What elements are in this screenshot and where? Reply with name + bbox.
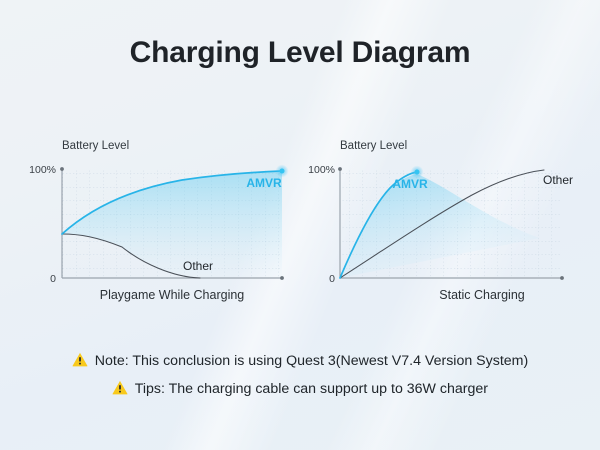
chart-svg-playgame: Battery Level 100% 0 AMVR Other Playgame… xyxy=(22,133,312,303)
warning-icon xyxy=(72,350,88,376)
y-tick-100: 100% xyxy=(308,164,335,176)
amvr-endpoint-dot xyxy=(415,170,420,175)
series-label-other-playgame: Other xyxy=(183,259,213,273)
charging-level-page: Charging Level Diagram xyxy=(0,0,600,450)
x-axis-caption-static: Static Charging xyxy=(439,288,525,302)
x-axis-caption-playgame: Playgame While Charging xyxy=(100,288,245,302)
y-tick-0: 0 xyxy=(329,273,335,285)
warning-icon xyxy=(112,378,128,404)
note-text-2: Tips: The charging cable can support up … xyxy=(135,381,488,397)
page-title: Charging Level Diagram xyxy=(0,36,600,70)
chart-playgame-while-charging: Battery Level 100% 0 AMVR Other Playgame… xyxy=(22,133,312,303)
series-label-amvr-playgame: AMVR xyxy=(246,176,282,190)
y-tick-0: 0 xyxy=(50,273,56,285)
note-line-1: Note: This conclusion is using Quest 3(N… xyxy=(0,348,600,376)
amvr-endpoint-dot xyxy=(280,169,285,174)
note-text-1: Note: This conclusion is using Quest 3(N… xyxy=(95,353,528,369)
note-line-2: Tips: The charging cable can support up … xyxy=(0,376,600,404)
footer-notes: Note: This conclusion is using Quest 3(N… xyxy=(0,348,600,404)
x-axis-cap-dot xyxy=(560,276,564,280)
chart-static-charging: Battery Level 100% 0 AMVR Other Static C… xyxy=(322,133,592,303)
x-axis-cap-dot xyxy=(280,276,284,280)
series-label-other-static: Other xyxy=(543,173,573,187)
y-axis-cap-dot xyxy=(60,167,64,171)
series-label-amvr-static: AMVR xyxy=(392,177,428,191)
y-axis-title-static: Battery Level xyxy=(340,140,407,152)
y-axis-cap-dot xyxy=(338,167,342,171)
y-tick-100: 100% xyxy=(29,164,56,176)
chart-svg-static: Battery Level 100% 0 AMVR Other Static C… xyxy=(322,133,592,303)
y-axis-title-playgame: Battery Level xyxy=(62,140,129,152)
